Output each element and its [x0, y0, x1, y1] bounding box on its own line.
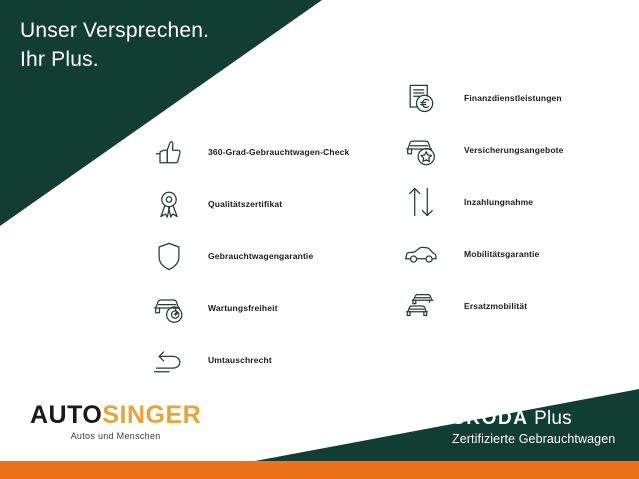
car-wrench-icon: [148, 287, 190, 329]
feature-item: Versicherungsangebote: [400, 124, 564, 176]
car-star-icon: [400, 129, 442, 171]
feature-label: Finanzdienstleistungen: [464, 93, 562, 103]
feature-item: Qualitätszertifikat: [148, 178, 349, 230]
promo-banner: Unser Versprechen. Ihr Plus. 360-Grad-Ge…: [0, 0, 639, 479]
headline-line-1: Unser Versprechen.: [20, 19, 209, 42]
skoda-subtitle: Zertifizierte Gebrauchtwagen: [452, 431, 615, 448]
two-cars-icon: [400, 285, 442, 327]
return-arrow-icon: [148, 339, 190, 381]
skoda-plus-word: Plus: [529, 408, 572, 429]
feature-label: Wartungsfreiheit: [208, 303, 278, 313]
feature-item: 360-Grad-Gebrauchtwagen-Check: [148, 126, 349, 178]
headline: Unser Versprechen. Ihr Plus.: [20, 16, 209, 74]
autosinger-tagline: Autos und Menschen: [30, 431, 201, 441]
feature-label: Inzahlungnahme: [464, 197, 533, 207]
skoda-wordmark: ŠKODA Plus: [452, 408, 615, 430]
autosinger-word-auto: AUTO: [30, 401, 102, 429]
feature-item: Finanzdienstleistungen: [400, 72, 564, 124]
feature-item: Inzahlungnahme: [400, 176, 564, 228]
headline-line-2: Ihr Plus.: [20, 45, 209, 74]
feature-item: Mobilitätsgarantie: [400, 228, 564, 280]
feature-item: Umtauschrecht: [148, 334, 349, 386]
document-euro-icon: [400, 77, 442, 119]
feature-item: Ersatzmobilität: [400, 280, 564, 332]
car-side-icon: [400, 233, 442, 275]
thumbs-up-icon: [148, 131, 190, 173]
feature-list-left: 360-Grad-Gebrauchtwagen-Check Qualitätsz…: [148, 126, 349, 386]
up-down-arrows-icon: [400, 181, 442, 223]
orange-bottom-bar: [0, 461, 639, 479]
feature-label: Umtauschrecht: [208, 355, 272, 365]
feature-label: Gebrauchtwagengarantie: [208, 251, 313, 261]
shield-icon: [148, 235, 190, 277]
feature-item: Gebrauchtwagengarantie: [148, 230, 349, 282]
feature-label: Versicherungsangebote: [464, 145, 564, 155]
feature-label: Mobilitätsgarantie: [464, 249, 539, 259]
autosinger-word-singer: SINGER: [102, 401, 201, 429]
skoda-plus-logo: ŠKODA Plus Zertifizierte Gebrauchtwagen: [452, 408, 615, 448]
autosinger-logo: AUTOSINGER Autos und Menschen: [30, 402, 201, 441]
award-rosette-icon: [148, 183, 190, 225]
feature-label: 360-Grad-Gebrauchtwagen-Check: [208, 147, 349, 157]
feature-label: Qualitätszertifikat: [208, 199, 282, 209]
skoda-brand-name: ŠKODA: [452, 408, 529, 429]
feature-list-right: Finanzdienstleistungen Versicherungsange…: [400, 72, 564, 332]
feature-item: Wartungsfreiheit: [148, 282, 349, 334]
feature-label: Ersatzmobilität: [464, 301, 527, 311]
autosinger-wordmark: AUTOSINGER: [30, 402, 201, 428]
